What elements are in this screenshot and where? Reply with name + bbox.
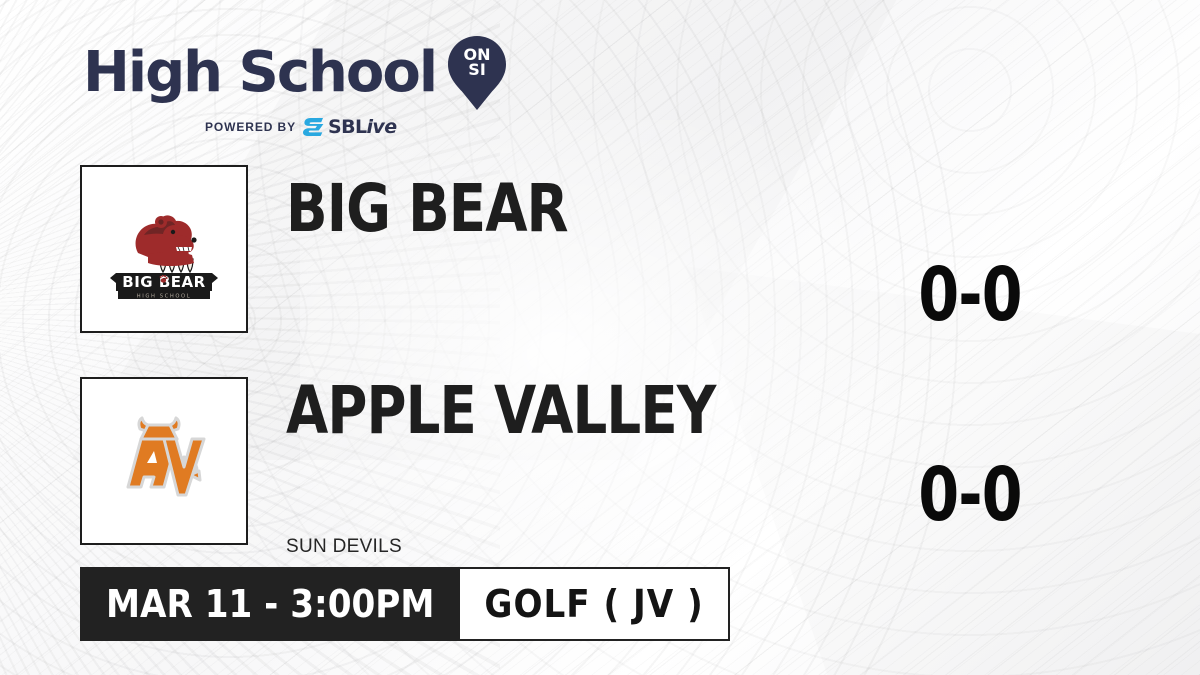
sblive-logo: SBLive (303, 117, 396, 137)
apple-valley-logo-icon (104, 401, 224, 521)
game-datetime: MAR 11 - 3:00PM (80, 567, 460, 641)
big-bear-logo-icon: BIG BEAR HIGH SCHOOL (104, 189, 224, 309)
wordmark-row: High School ON SI (83, 36, 506, 110)
team-name-big-bear: BIG BEAR (286, 176, 568, 242)
brand-header: High School ON SI POWERED BY SBLive (83, 36, 506, 137)
team-logo-frame-apple-valley[interactable] (80, 377, 248, 545)
pin-text: ON SI (448, 47, 506, 77)
team-mascot-apple-valley: SUN DEVILS (286, 536, 402, 558)
svg-text:HIGH SCHOOL: HIGH SCHOOL (137, 294, 191, 300)
team-name-apple-valley: APPLE VALLEY (286, 378, 715, 444)
game-info-bar: MAR 11 - 3:00PM GOLF ( JV ) (80, 567, 730, 641)
sblive-ive: ive (367, 116, 397, 138)
score-apple-valley: 0-0 (882, 458, 1058, 532)
site-wordmark: High School (83, 45, 436, 101)
powered-by-label: POWERED BY (205, 120, 296, 134)
matchup-graphic: High School ON SI POWERED BY SBLive (0, 0, 1200, 675)
sblive-lightning-icon (303, 117, 325, 137)
score-big-bear: 0-0 (882, 258, 1058, 332)
pin-line-si: SI (448, 62, 506, 77)
game-sport-level: GOLF ( JV ) (460, 567, 729, 641)
team-logo-frame-big-bear[interactable]: BIG BEAR HIGH SCHOOL (80, 165, 248, 333)
sblive-wordmark: SBLive (328, 118, 396, 137)
powered-by-row: POWERED BY SBLive (205, 117, 396, 137)
on-si-pin-icon: ON SI (448, 36, 506, 110)
sblive-sbl: SBL (328, 116, 366, 138)
